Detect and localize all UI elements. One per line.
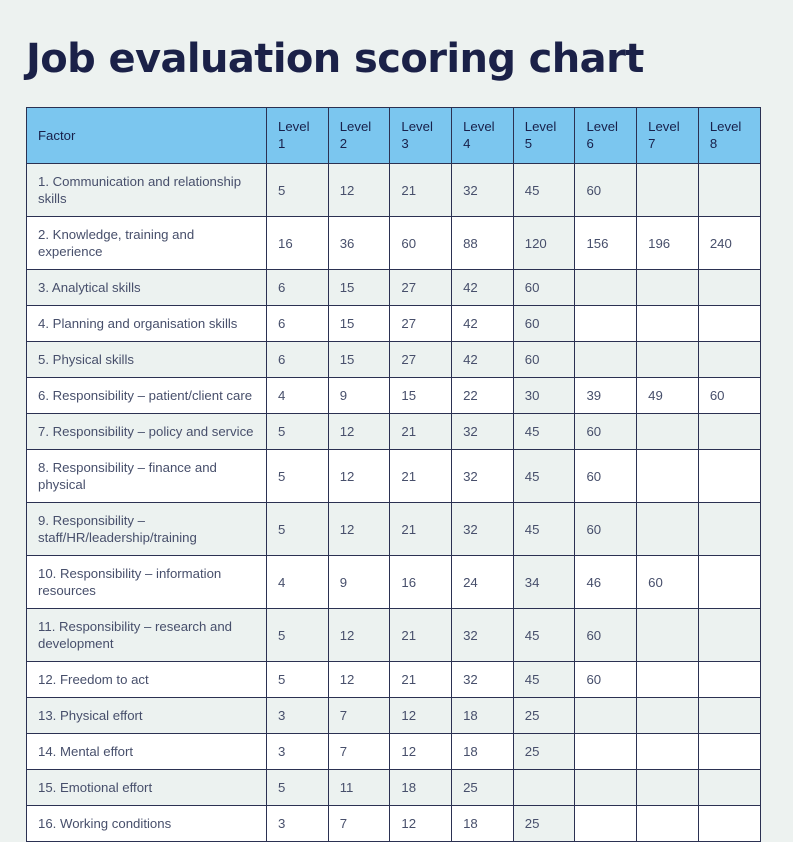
cell-level-4-score: 18	[452, 734, 514, 770]
cell-level-6-score: 60	[575, 414, 637, 450]
cell-level-4-score: 32	[452, 414, 514, 450]
column-header-level-1[interactable]: Level1	[267, 108, 329, 164]
column-header-level-word: Level	[401, 119, 441, 135]
table-row: 16. Working conditions37121825	[27, 806, 761, 842]
cell-factor: 1. Communication and relationship skills	[27, 164, 267, 217]
cell-level-1-score: 6	[267, 306, 329, 342]
cell-level-5-score: 45	[513, 609, 575, 662]
cell-level-3-score: 27	[390, 306, 452, 342]
cell-level-5-score: 45	[513, 662, 575, 698]
cell-level-3-score: 12	[390, 734, 452, 770]
column-header-level-number: 4	[463, 136, 503, 152]
cell-level-2-score: 11	[328, 770, 390, 806]
cell-level-4-score: 42	[452, 270, 514, 306]
cell-level-2-score: 15	[328, 306, 390, 342]
cell-level-3-score: 27	[390, 342, 452, 378]
cell-level-6-score	[575, 698, 637, 734]
table-row: 11. Responsibility – research and develo…	[27, 609, 761, 662]
cell-level-6-score	[575, 306, 637, 342]
cell-level-6-score: 46	[575, 556, 637, 609]
table-row: 15. Emotional effort5111825	[27, 770, 761, 806]
cell-level-5-score: 45	[513, 414, 575, 450]
cell-level-8-score	[698, 662, 760, 698]
cell-level-8-score	[698, 556, 760, 609]
cell-level-8-score	[698, 342, 760, 378]
cell-factor: 14. Mental effort	[27, 734, 267, 770]
cell-level-1-score: 5	[267, 450, 329, 503]
column-header-level-word: Level	[278, 119, 318, 135]
page-root: Job evaluation scoring chart FactorLevel…	[0, 0, 793, 718]
cell-level-2-score: 9	[328, 378, 390, 414]
column-header-level-number: 2	[340, 136, 380, 152]
cell-level-3-score: 21	[390, 609, 452, 662]
column-header-level-6[interactable]: Level6	[575, 108, 637, 164]
table-row: 13. Physical effort37121825	[27, 698, 761, 734]
cell-level-2-score: 12	[328, 164, 390, 217]
cell-level-6-score	[575, 270, 637, 306]
cell-level-3-score: 18	[390, 770, 452, 806]
job-evaluation-score-table: FactorLevel1Level2Level3Level4Level5Leve…	[26, 107, 761, 842]
column-header-level-word: Level	[586, 119, 626, 135]
table-row: 14. Mental effort37121825	[27, 734, 761, 770]
cell-level-7-score	[637, 450, 699, 503]
cell-level-3-score: 12	[390, 806, 452, 842]
column-header-level-5[interactable]: Level5	[513, 108, 575, 164]
cell-level-7-score	[637, 734, 699, 770]
cell-level-1-score: 6	[267, 270, 329, 306]
cell-level-1-score: 5	[267, 770, 329, 806]
column-header-factor[interactable]: Factor	[27, 108, 267, 164]
cell-level-2-score: 12	[328, 609, 390, 662]
cell-factor: 16. Working conditions	[27, 806, 267, 842]
cell-level-2-score: 12	[328, 662, 390, 698]
column-header-level-7[interactable]: Level7	[637, 108, 699, 164]
cell-level-5-score: 34	[513, 556, 575, 609]
column-header-level-number: 8	[710, 136, 750, 152]
cell-level-5-score: 60	[513, 306, 575, 342]
cell-level-1-score: 6	[267, 342, 329, 378]
cell-level-7-score	[637, 306, 699, 342]
cell-level-2-score: 7	[328, 806, 390, 842]
cell-level-8-score	[698, 698, 760, 734]
table-row: 4. Planning and organisation skills61527…	[27, 306, 761, 342]
column-header-level-3[interactable]: Level3	[390, 108, 452, 164]
cell-level-3-score: 21	[390, 414, 452, 450]
cell-level-8-score: 240	[698, 217, 760, 270]
cell-level-5-score: 25	[513, 734, 575, 770]
cell-level-5-score: 60	[513, 270, 575, 306]
cell-level-7-score	[637, 698, 699, 734]
cell-factor: 10. Responsibility – information resourc…	[27, 556, 267, 609]
cell-level-3-score: 12	[390, 698, 452, 734]
table-row: 8. Responsibility – finance and physical…	[27, 450, 761, 503]
cell-level-3-score: 27	[390, 270, 452, 306]
cell-level-4-score: 88	[452, 217, 514, 270]
cell-level-6-score: 60	[575, 164, 637, 217]
table-row: 10. Responsibility – information resourc…	[27, 556, 761, 609]
cell-level-3-score: 15	[390, 378, 452, 414]
column-header-level-number: 1	[278, 136, 318, 152]
cell-factor: 5. Physical skills	[27, 342, 267, 378]
cell-level-5-score: 25	[513, 698, 575, 734]
table-row: 2. Knowledge, training and experience163…	[27, 217, 761, 270]
cell-level-8-score	[698, 414, 760, 450]
page-title: Job evaluation scoring chart	[26, 0, 767, 85]
cell-level-5-score: 30	[513, 378, 575, 414]
column-header-level-word: Level	[648, 119, 688, 135]
cell-level-3-score: 21	[390, 450, 452, 503]
cell-level-8-score	[698, 503, 760, 556]
cell-level-1-score: 3	[267, 806, 329, 842]
cell-level-4-score: 18	[452, 806, 514, 842]
cell-level-5-score: 60	[513, 342, 575, 378]
cell-level-7-score	[637, 414, 699, 450]
cell-level-4-score: 18	[452, 698, 514, 734]
cell-level-7-score	[637, 164, 699, 217]
cell-level-4-score: 42	[452, 342, 514, 378]
cell-level-2-score: 12	[328, 503, 390, 556]
cell-level-6-score: 60	[575, 503, 637, 556]
cell-level-3-score: 21	[390, 164, 452, 217]
cell-level-1-score: 4	[267, 556, 329, 609]
cell-level-1-score: 16	[267, 217, 329, 270]
table-row: 1. Communication and relationship skills…	[27, 164, 761, 217]
cell-level-6-score: 156	[575, 217, 637, 270]
cell-level-8-score	[698, 770, 760, 806]
cell-level-2-score: 36	[328, 217, 390, 270]
table-row: 5. Physical skills615274260	[27, 342, 761, 378]
cell-factor: 11. Responsibility – research and develo…	[27, 609, 267, 662]
cell-level-5-score: 45	[513, 503, 575, 556]
column-header-level-number: 3	[401, 136, 441, 152]
cell-level-7-score	[637, 503, 699, 556]
cell-factor: 2. Knowledge, training and experience	[27, 217, 267, 270]
column-header-factor-label: Factor	[38, 128, 75, 143]
cell-level-4-score: 42	[452, 306, 514, 342]
table-body: 1. Communication and relationship skills…	[27, 164, 761, 842]
cell-level-3-score: 21	[390, 662, 452, 698]
cell-level-2-score: 7	[328, 698, 390, 734]
cell-level-6-score: 60	[575, 609, 637, 662]
cell-level-4-score: 32	[452, 503, 514, 556]
cell-factor: 13. Physical effort	[27, 698, 267, 734]
cell-level-8-score	[698, 164, 760, 217]
cell-factor: 4. Planning and organisation skills	[27, 306, 267, 342]
column-header-level-8[interactable]: Level8	[698, 108, 760, 164]
cell-level-1-score: 4	[267, 378, 329, 414]
cell-factor: 7. Responsibility – policy and service	[27, 414, 267, 450]
cell-level-8-score: 60	[698, 378, 760, 414]
cell-level-7-score	[637, 270, 699, 306]
cell-level-4-score: 24	[452, 556, 514, 609]
table-row: 3. Analytical skills615274260	[27, 270, 761, 306]
cell-level-7-score	[637, 662, 699, 698]
column-header-level-word: Level	[710, 119, 750, 135]
cell-level-2-score: 12	[328, 414, 390, 450]
cell-level-7-score: 60	[637, 556, 699, 609]
cell-level-3-score: 60	[390, 217, 452, 270]
table-row: 12. Freedom to act51221324560	[27, 662, 761, 698]
cell-level-1-score: 5	[267, 662, 329, 698]
column-header-level-2[interactable]: Level2	[328, 108, 390, 164]
cell-factor: 8. Responsibility – finance and physical	[27, 450, 267, 503]
column-header-level-word: Level	[525, 119, 565, 135]
table-header: FactorLevel1Level2Level3Level4Level5Leve…	[27, 108, 761, 164]
table-row: 6. Responsibility – patient/client care4…	[27, 378, 761, 414]
cell-level-7-score	[637, 806, 699, 842]
cell-level-4-score: 25	[452, 770, 514, 806]
cell-level-8-score	[698, 270, 760, 306]
cell-level-2-score: 7	[328, 734, 390, 770]
cell-level-6-score: 60	[575, 662, 637, 698]
column-header-level-word: Level	[463, 119, 503, 135]
cell-level-5-score: 120	[513, 217, 575, 270]
cell-level-6-score: 39	[575, 378, 637, 414]
cell-factor: 3. Analytical skills	[27, 270, 267, 306]
column-header-level-number: 6	[586, 136, 626, 152]
cell-level-1-score: 5	[267, 503, 329, 556]
cell-level-3-score: 21	[390, 503, 452, 556]
cell-level-1-score: 3	[267, 734, 329, 770]
cell-level-3-score: 16	[390, 556, 452, 609]
cell-level-5-score: 45	[513, 450, 575, 503]
cell-level-4-score: 32	[452, 662, 514, 698]
cell-level-6-score	[575, 342, 637, 378]
cell-level-1-score: 5	[267, 609, 329, 662]
cell-level-8-score	[698, 734, 760, 770]
cell-level-4-score: 22	[452, 378, 514, 414]
cell-factor: 12. Freedom to act	[27, 662, 267, 698]
cell-level-1-score: 5	[267, 164, 329, 217]
cell-level-5-score: 25	[513, 806, 575, 842]
score-table-container: FactorLevel1Level2Level3Level4Level5Leve…	[26, 107, 767, 842]
table-header-row: FactorLevel1Level2Level3Level4Level5Leve…	[27, 108, 761, 164]
column-header-level-number: 7	[648, 136, 688, 152]
cell-level-6-score: 60	[575, 450, 637, 503]
cell-level-7-score	[637, 342, 699, 378]
cell-level-7-score	[637, 609, 699, 662]
cell-level-6-score	[575, 734, 637, 770]
cell-level-1-score: 3	[267, 698, 329, 734]
cell-level-6-score	[575, 770, 637, 806]
cell-level-7-score: 196	[637, 217, 699, 270]
column-header-level-4[interactable]: Level4	[452, 108, 514, 164]
table-row: 9. Responsibility – staff/HR/leadership/…	[27, 503, 761, 556]
cell-level-7-score	[637, 770, 699, 806]
cell-factor: 9. Responsibility – staff/HR/leadership/…	[27, 503, 267, 556]
cell-level-2-score: 15	[328, 342, 390, 378]
cell-level-4-score: 32	[452, 450, 514, 503]
cell-level-6-score	[575, 806, 637, 842]
cell-level-4-score: 32	[452, 609, 514, 662]
cell-level-8-score	[698, 306, 760, 342]
cell-factor: 6. Responsibility – patient/client care	[27, 378, 267, 414]
cell-level-1-score: 5	[267, 414, 329, 450]
cell-level-8-score	[698, 806, 760, 842]
cell-level-5-score: 45	[513, 164, 575, 217]
table-row: 7. Responsibility – policy and service51…	[27, 414, 761, 450]
cell-level-8-score	[698, 450, 760, 503]
cell-level-2-score: 12	[328, 450, 390, 503]
cell-level-2-score: 15	[328, 270, 390, 306]
cell-level-4-score: 32	[452, 164, 514, 217]
column-header-level-number: 5	[525, 136, 565, 152]
cell-level-7-score: 49	[637, 378, 699, 414]
cell-factor: 15. Emotional effort	[27, 770, 267, 806]
cell-level-8-score	[698, 609, 760, 662]
cell-level-5-score	[513, 770, 575, 806]
cell-level-2-score: 9	[328, 556, 390, 609]
column-header-level-word: Level	[340, 119, 380, 135]
